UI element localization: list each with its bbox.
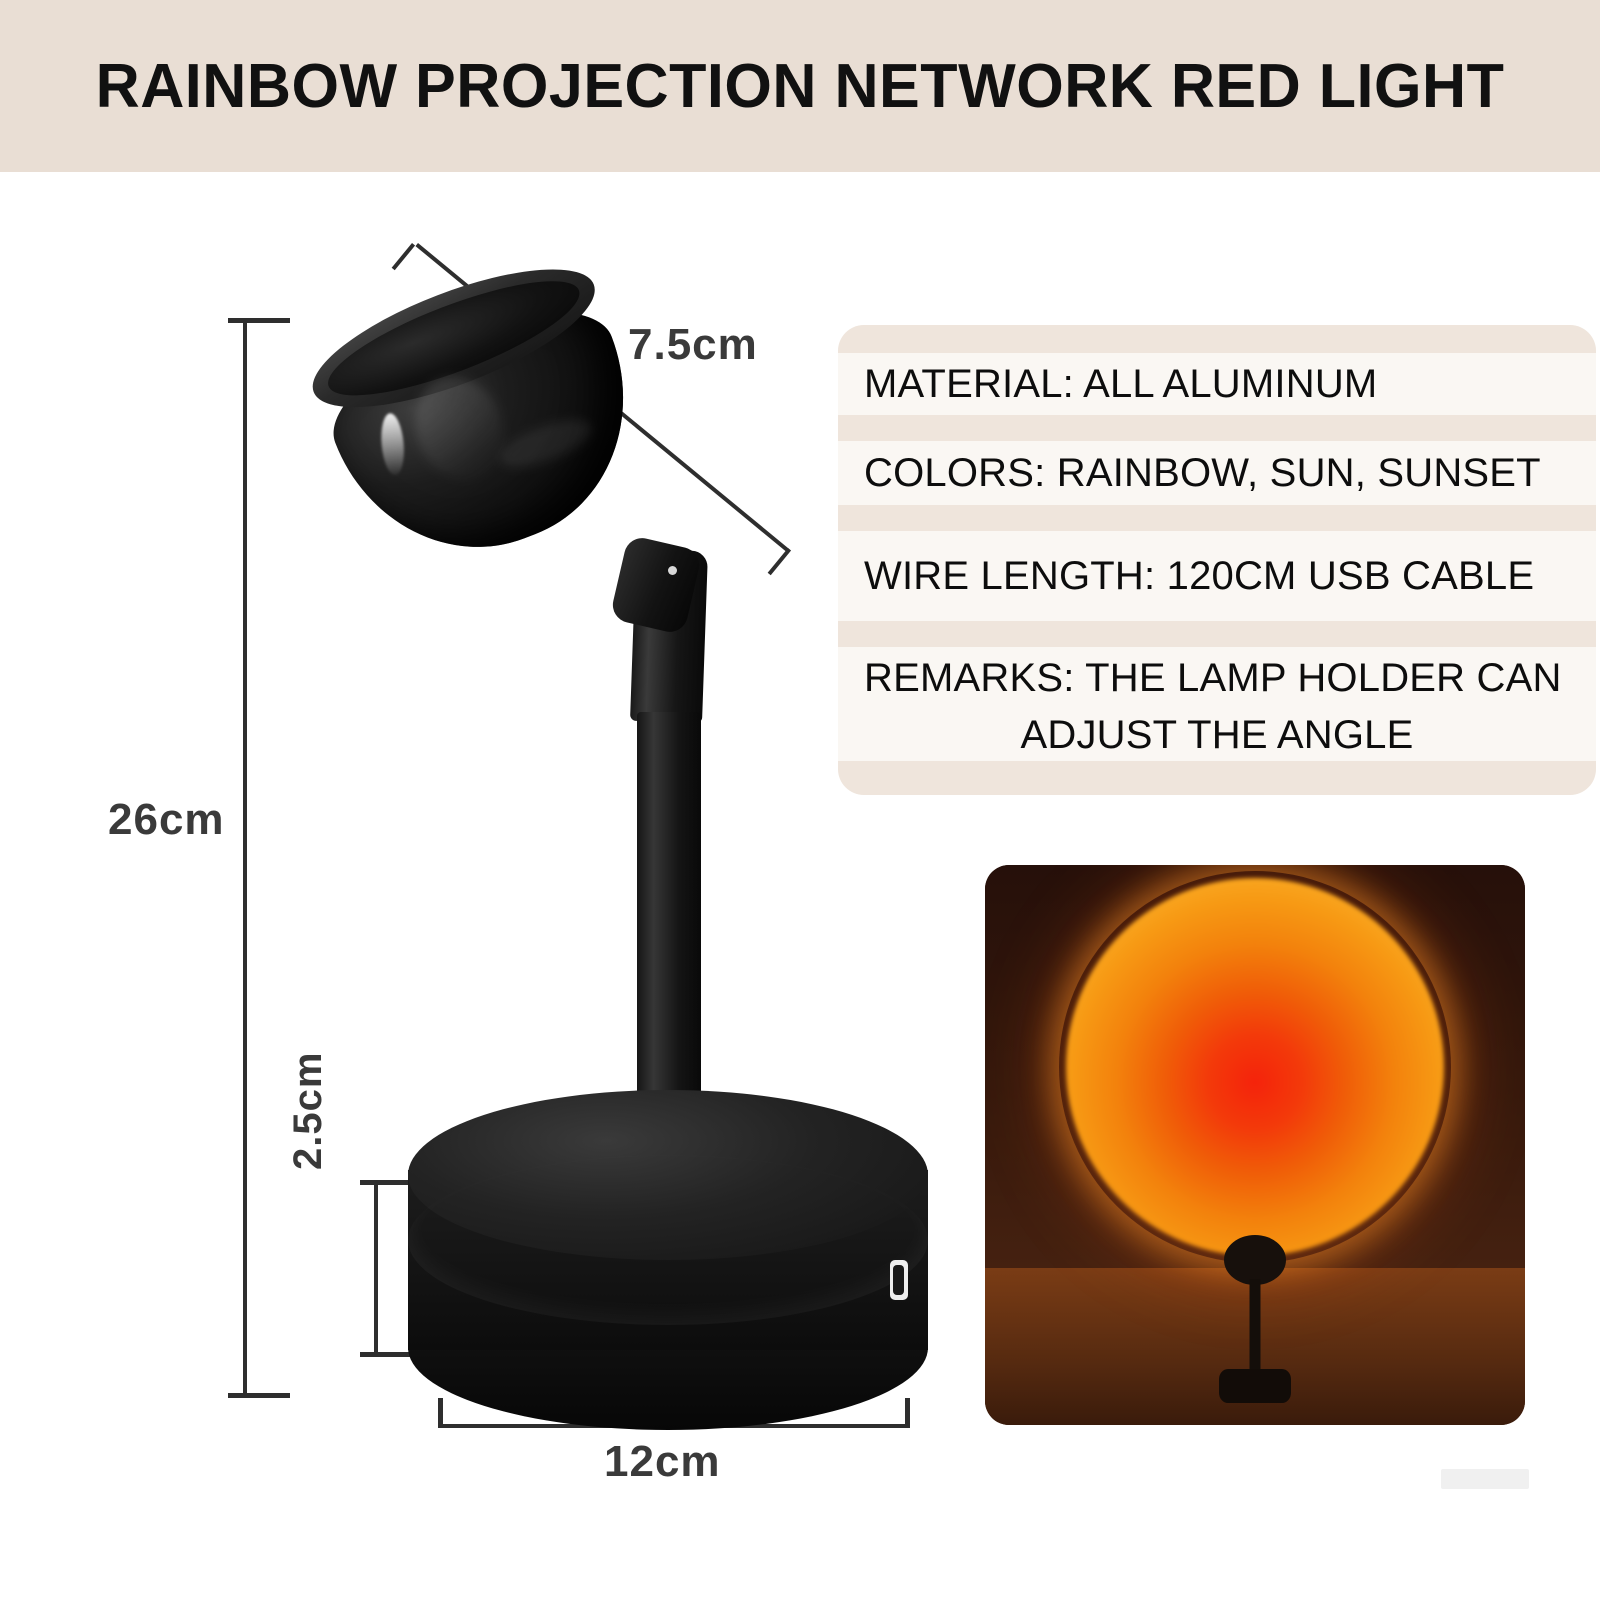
photo-lamp-stem: [1250, 1279, 1261, 1371]
lamp-base-rim: [408, 1155, 928, 1325]
lamp-joint-screw: [668, 566, 677, 575]
panel-stripe: [838, 325, 1596, 353]
spec-row-remarks: REMARKS: THE LAMP HOLDER CAN: [838, 647, 1596, 709]
photo-watermark-bar: [1441, 1469, 1529, 1489]
spec-text: COLORS: RAINBOW, SUN, SUNSET: [864, 451, 1541, 496]
panel-stripe: [838, 761, 1596, 795]
product-infographic: RAINBOW PROJECTION NETWORK RED LIGHT MAT…: [0, 0, 1600, 1600]
spec-text: REMARKS: THE LAMP HOLDER CAN: [864, 656, 1562, 701]
dimension-line-height: [243, 320, 247, 1398]
dimension-label-base-thickness: 2.5cm: [286, 1052, 331, 1170]
photo-lamp-head: [1224, 1235, 1286, 1285]
photo-sun-rim: [1059, 871, 1451, 1263]
spec-row-colors: COLORS: RAINBOW, SUN, SUNSET: [838, 441, 1596, 505]
dimension-cap-bottom: [228, 1393, 290, 1398]
panel-stripe: [838, 505, 1596, 531]
spec-text: WIRE LENGTH: 120CM USB CABLE: [864, 554, 1534, 599]
lamp-stem-lower: [637, 712, 701, 1132]
spec-row-remarks-2: ADJUST THE ANGLE: [838, 709, 1596, 761]
photo-lamp-base: [1219, 1369, 1291, 1403]
page-title: RAINBOW PROJECTION NETWORK RED LIGHT: [12, 0, 1588, 172]
dimension-label-height: 26cm: [108, 795, 225, 845]
spec-text: ADJUST THE ANGLE: [1021, 713, 1414, 758]
spec-row-material: MATERIAL: ALL ALUMINUM: [838, 353, 1596, 415]
usb-port-inner: [893, 1265, 904, 1295]
specifications-panel: MATERIAL: ALL ALUMINUM COLORS: RAINBOW, …: [838, 325, 1596, 795]
sunset-projection-photo: [985, 865, 1525, 1425]
panel-stripe: [838, 621, 1596, 647]
dimension-cap-top: [228, 318, 290, 323]
spec-row-wire: WIRE LENGTH: 120CM USB CABLE: [838, 531, 1596, 621]
panel-stripe: [838, 415, 1596, 441]
product-lamp-illustration: [330, 250, 950, 1450]
